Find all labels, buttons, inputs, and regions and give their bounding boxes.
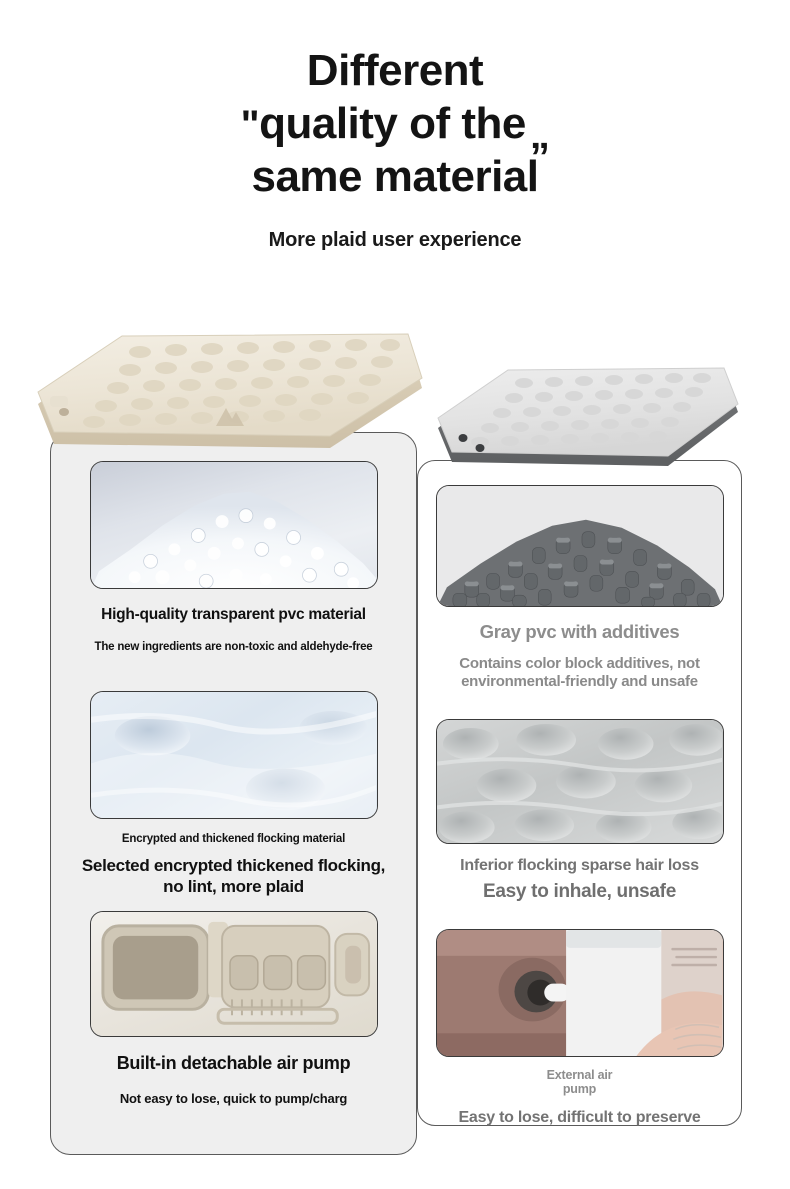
left-section-pump: Built-in detachable air pump Not easy to… [51, 911, 416, 1106]
left-pvc-secondary-caption: The new ingredients are non-toxic and al… [51, 641, 416, 653]
beige-air-mattress-image [30, 326, 430, 461]
transparent-pvc-pellets-photo [90, 461, 378, 589]
product-comparison-infographic: Different "quality of the„ same material… [0, 0, 790, 1189]
external-air-pump-photo [436, 929, 724, 1057]
encrypted-flocking-texture-photo [90, 691, 378, 819]
external-pump-illustration [437, 930, 723, 1057]
right-flocking-secondary-caption: Easy to inhale, unsafe [418, 881, 741, 903]
page-title-line-3: same material [0, 151, 790, 203]
beige-mattress-illustration [30, 326, 430, 461]
left-flocking-primary-caption: Encrypted and thickened flocking materia… [51, 833, 416, 845]
flocking-dimple-illustration [91, 692, 377, 819]
right-section-pvc: Gray pvc with additives Contains color b… [418, 485, 741, 691]
page-title-line-2-text: quality of the [259, 99, 526, 148]
header: Different "quality of the„ same material… [0, 0, 790, 252]
inferior-product-panel: Gray pvc with additives Contains color b… [417, 460, 742, 1126]
left-section-flocking: Encrypted and thickened flocking materia… [51, 691, 416, 897]
left-pump-secondary-caption: Not easy to lose, quick to pump/charg [51, 1091, 416, 1106]
close-quote-mark: „ [530, 109, 550, 161]
right-section-flocking: Inferior flocking sparse hair loss Easy … [418, 719, 741, 903]
left-pvc-primary-caption: High-quality transparent pvc material [51, 606, 416, 624]
left-section-pvc: High-quality transparent pvc material Th… [51, 461, 416, 653]
right-section-pump: External air pump Easy to lose, difficul… [418, 929, 741, 1127]
built-in-air-pump-photo [90, 911, 378, 1037]
gray-mattress-illustration [432, 362, 747, 480]
pump-module-illustration [91, 912, 377, 1037]
pellet-pile-illustration [91, 462, 377, 589]
right-flocking-primary-caption: Inferior flocking sparse hair loss [418, 857, 741, 875]
gray-pellet-pile-illustration [437, 486, 723, 607]
page-subtitle: More plaid user experience [0, 229, 790, 252]
gray-air-mattress-image [432, 362, 747, 480]
inferior-flocking-texture-photo [436, 719, 724, 844]
gray-pvc-pellets-photo [436, 485, 724, 607]
page-title-line-1: Different [0, 44, 790, 98]
right-pump-primary-caption-line-2: pump [418, 1082, 741, 1096]
right-pump-primary-caption-line-1: External air [418, 1068, 741, 1082]
page-title-line-2: "quality of the„ [0, 98, 790, 151]
quality-product-panel: High-quality transparent pvc material Th… [50, 432, 417, 1155]
gray-dimple-illustration [437, 720, 723, 844]
right-pump-secondary-caption: Easy to lose, difficult to preserve [418, 1109, 741, 1127]
left-pump-primary-caption: Built-in detachable air pump [51, 1053, 416, 1074]
open-quote-mark: " [241, 103, 259, 147]
left-flocking-secondary-caption: Selected encrypted thickened flocking, n… [51, 855, 416, 897]
right-pvc-primary-caption: Gray pvc with additives [418, 621, 741, 643]
right-pvc-secondary-caption: Contains color block additives, not envi… [418, 655, 741, 691]
